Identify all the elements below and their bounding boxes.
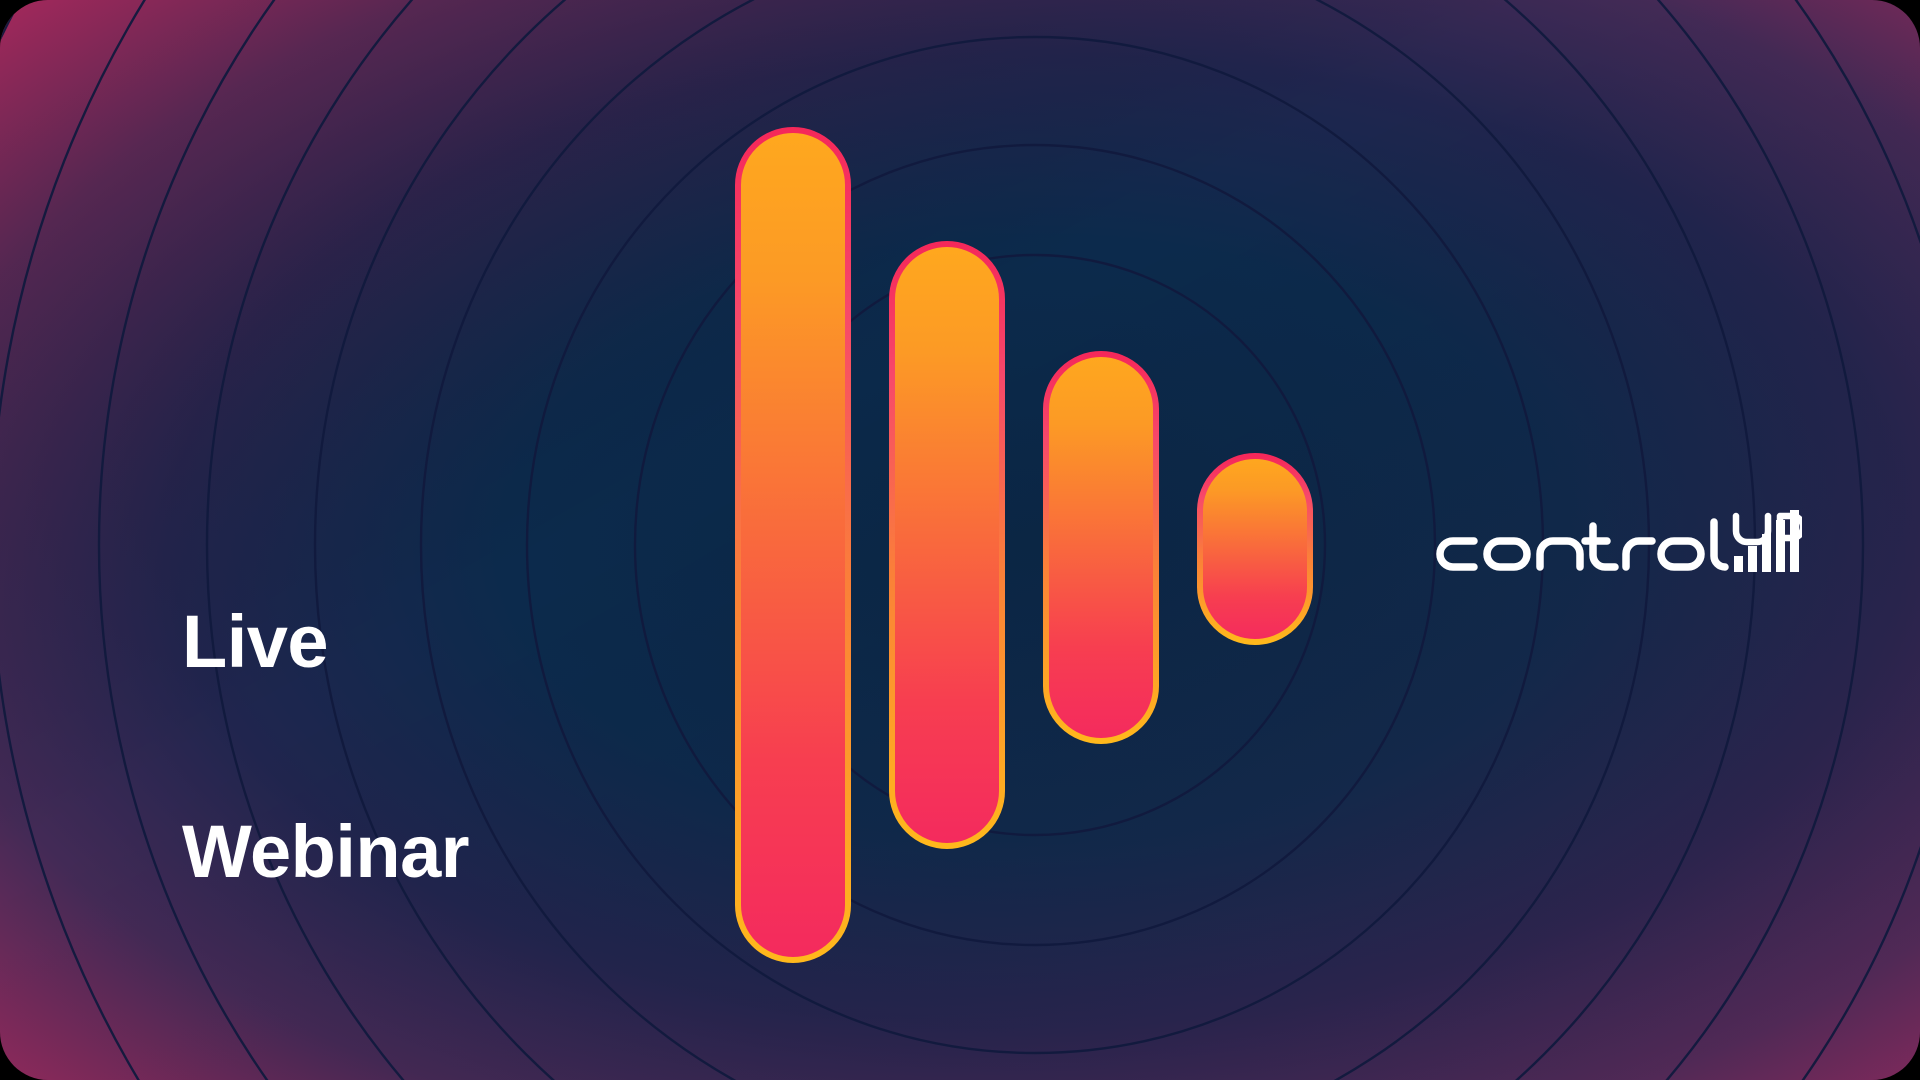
live-webinar-banner: Live Webinar (0, 0, 1920, 1080)
logo-bar-4 (1776, 520, 1785, 572)
controlup-logo[interactable] (1430, 510, 1802, 590)
bar-4 (1200, 456, 1310, 642)
logo-bar-2 (1748, 546, 1757, 572)
bar-2 (892, 244, 1002, 846)
logo-bar-3 (1762, 534, 1771, 572)
logo-bar-1 (1734, 556, 1743, 572)
bar-3 (1046, 354, 1156, 741)
logo-bar-5 (1790, 510, 1799, 572)
bar-1 (738, 130, 848, 960)
controlup-wordmark (1440, 522, 1725, 567)
